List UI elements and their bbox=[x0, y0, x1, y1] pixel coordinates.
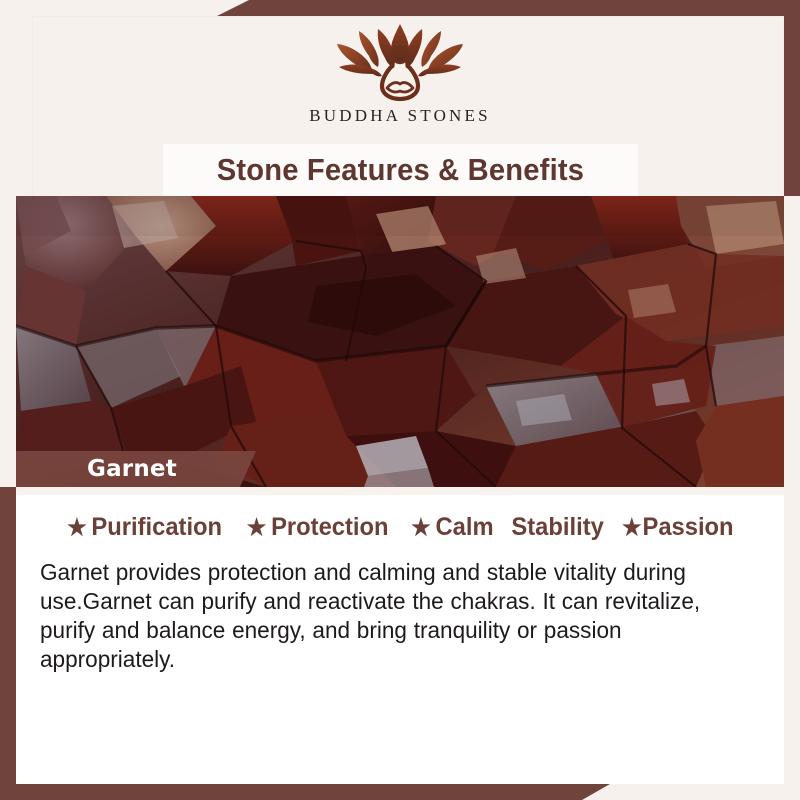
feature-label: Passion bbox=[643, 513, 734, 542]
feature-item-purification: ★ Purification bbox=[67, 513, 222, 542]
frame-band-bottom bbox=[0, 784, 610, 800]
stone-name: Garnet bbox=[16, 456, 177, 482]
star-icon: ★ bbox=[622, 516, 642, 539]
frame-band-top bbox=[215, 0, 800, 17]
feature-item-passion: ★ Passion bbox=[622, 513, 734, 542]
feature-list: ★ Purification ★ Protection ★ Calm ★ Sta… bbox=[16, 513, 784, 542]
star-icon: ★ bbox=[412, 516, 432, 539]
page-title: Stone Features & Benefits bbox=[217, 152, 584, 188]
star-icon: ★ bbox=[247, 516, 267, 539]
frame-band-left bbox=[0, 487, 16, 800]
star-icon: ★ bbox=[67, 516, 87, 539]
title-banner: Stone Features & Benefits bbox=[163, 144, 638, 196]
feature-item-stability: ★ Stability bbox=[512, 513, 604, 542]
garnet-photo-art bbox=[16, 196, 784, 487]
feature-label: Stability bbox=[512, 513, 604, 542]
brand-logo: BUDDHA STONES bbox=[0, 22, 800, 134]
lotus-meditation-icon bbox=[325, 22, 475, 104]
brand-name: BUDDHA STONES bbox=[309, 106, 491, 126]
description-paragraph: Garnet provides protection and calming a… bbox=[40, 558, 735, 674]
feature-label: Protection bbox=[271, 513, 388, 542]
feature-item-protection: ★ Protection bbox=[247, 513, 389, 542]
feature-label: Calm bbox=[436, 513, 494, 542]
infographic-page: BUDDHA STONES Stone Features & Benefits bbox=[0, 0, 800, 800]
stone-name-bar: Garnet bbox=[16, 451, 256, 487]
garnet-photo bbox=[16, 196, 784, 487]
content-panel: ★ Purification ★ Protection ★ Calm ★ Sta… bbox=[16, 487, 784, 784]
feature-label: Purification bbox=[91, 513, 222, 542]
panel-top-strip bbox=[16, 487, 784, 495]
feature-item-calm: ★ Calm bbox=[412, 513, 494, 542]
